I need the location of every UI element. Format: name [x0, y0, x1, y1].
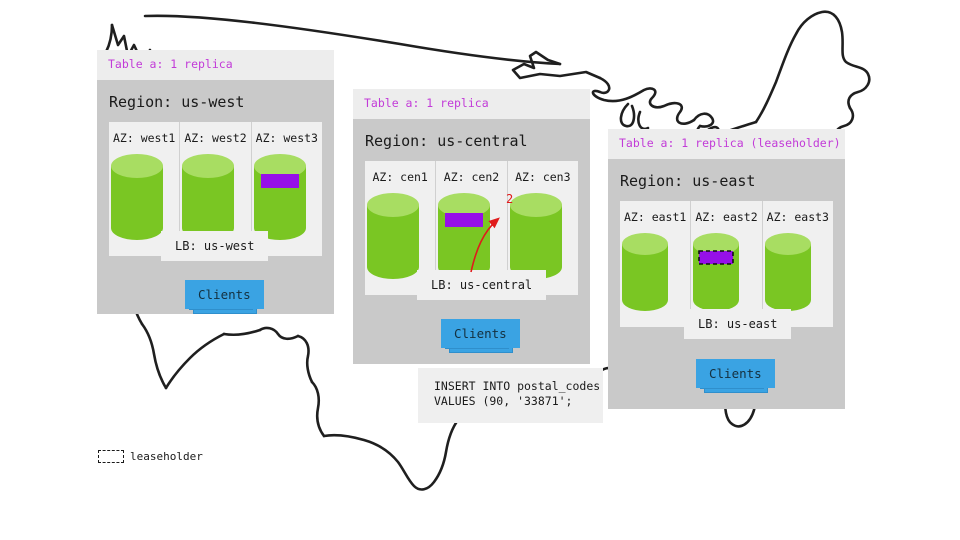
az-label-east2: AZ: east2: [691, 210, 761, 224]
load-balancer-us-west[interactable]: LB: us-west: [161, 231, 268, 261]
region-title-us-central: Region: us-central: [353, 119, 590, 161]
legend: leaseholder: [98, 450, 203, 463]
node-cylinder-cen2[interactable]: [436, 191, 506, 281]
node-cylinder-cen3[interactable]: [508, 191, 578, 281]
az-label-east3: AZ: east3: [763, 210, 833, 224]
az-cell-east1[interactable]: AZ: east1: [620, 201, 691, 327]
clients-label-us-east[interactable]: Clients: [696, 359, 775, 388]
az-cell-east3[interactable]: AZ: east3: [763, 201, 833, 327]
node-cylinder-west3[interactable]: [252, 152, 322, 242]
replica-block-west3: [261, 174, 299, 188]
replication-arrow-label-2: 2: [506, 192, 513, 206]
az-label-west2: AZ: west2: [180, 131, 250, 145]
az-label-cen1: AZ: cen1: [365, 170, 435, 184]
region-header-us-west: Table a: 1 replica: [97, 50, 334, 80]
region-panel-us-central: Table a: 1 replica Region: us-central AZ…: [353, 89, 590, 364]
sql-statement-box: INSERT INTO postal_codes VALUES (90, '33…: [418, 368, 603, 423]
node-cylinder-east1[interactable]: [620, 231, 690, 313]
replica-block-east2-leaseholder: [699, 251, 733, 264]
az-cell-east2[interactable]: AZ: east2: [691, 201, 762, 327]
az-label-cen3: AZ: cen3: [508, 170, 578, 184]
clients-label-us-west[interactable]: Clients: [185, 280, 264, 309]
node-cylinder-east3[interactable]: [763, 231, 833, 313]
clients-us-east[interactable]: Clients: [696, 359, 775, 388]
load-balancer-us-east[interactable]: LB: us-east: [684, 309, 791, 339]
clients-us-central[interactable]: Clients: [441, 319, 520, 348]
az-label-cen2: AZ: cen2: [436, 170, 506, 184]
replica-block-cen2: [445, 213, 483, 227]
region-panel-us-west: Table a: 1 replica Region: us-west AZ: w…: [97, 50, 334, 314]
clients-us-west[interactable]: Clients: [185, 280, 264, 309]
az-label-east1: AZ: east1: [620, 210, 690, 224]
node-cylinder-east2[interactable]: [691, 231, 761, 313]
node-cylinder-west2[interactable]: [180, 152, 250, 242]
az-label-west3: AZ: west3: [252, 131, 322, 145]
az-label-west1: AZ: west1: [109, 131, 179, 145]
region-title-us-west: Region: us-west: [97, 80, 334, 122]
region-body-us-west: Region: us-west AZ: west1 AZ: west2: [97, 80, 334, 314]
node-cylinder-cen1[interactable]: [365, 191, 435, 281]
diagram-canvas: Table a: 1 replica Region: us-west AZ: w…: [0, 0, 960, 540]
load-balancer-us-central[interactable]: LB: us-central: [417, 270, 546, 300]
region-header-us-east: Table a: 1 replica (leaseholder): [608, 129, 845, 159]
leaseholder-dashed-swatch-icon: [98, 450, 124, 463]
region-header-us-central: Table a: 1 replica: [353, 89, 590, 119]
region-panel-us-east: Table a: 1 replica (leaseholder) Region:…: [608, 129, 845, 409]
clients-label-us-central[interactable]: Clients: [441, 319, 520, 348]
legend-label-leaseholder: leaseholder: [130, 450, 203, 463]
az-row-us-east: AZ: east1 AZ: east2: [620, 201, 833, 327]
region-title-us-east: Region: us-east: [608, 159, 845, 201]
node-cylinder-west1[interactable]: [109, 152, 179, 242]
